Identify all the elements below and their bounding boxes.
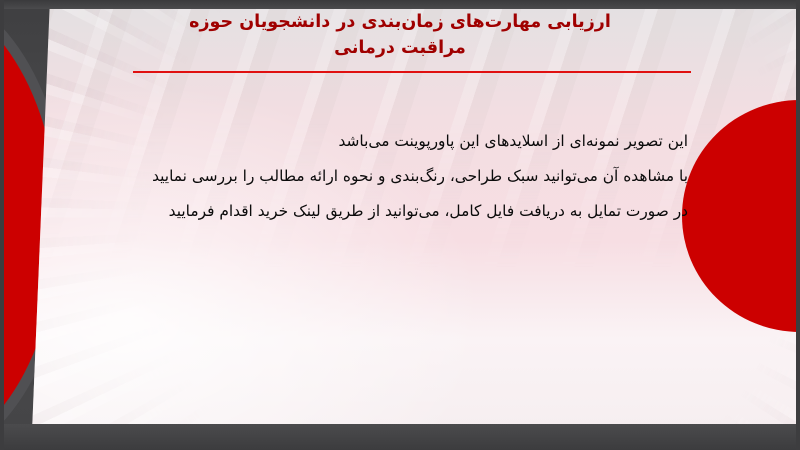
presentation-slide: ارزیابی مهارت‌های زمان‌بندی در دانشجویان… [0,0,800,450]
left-frame-edge [0,0,4,450]
slide-body-text: این تصویر نمونه‌ای از اسلایدهای این پاور… [102,124,688,229]
top-frame-band [0,0,800,9]
bottom-frame-band [0,424,800,450]
right-frame-edge [796,0,800,450]
slide-title: ارزیابی مهارت‌های زمان‌بندی در دانشجویان… [0,9,800,61]
slide-title-line-1: ارزیابی مهارت‌های زمان‌بندی در دانشجویان… [0,9,800,35]
slide-title-line-2: مراقبت درمانی [0,35,800,61]
body-line-3: در صورت تمایل به دریافت فایل کامل، می‌تو… [102,194,688,229]
title-underline-rule [133,71,691,73]
body-line-1: این تصویر نمونه‌ای از اسلایدهای این پاور… [102,124,688,159]
body-line-2: با مشاهده آن می‌توانید سبک طراحی، رنگ‌بن… [102,159,688,194]
